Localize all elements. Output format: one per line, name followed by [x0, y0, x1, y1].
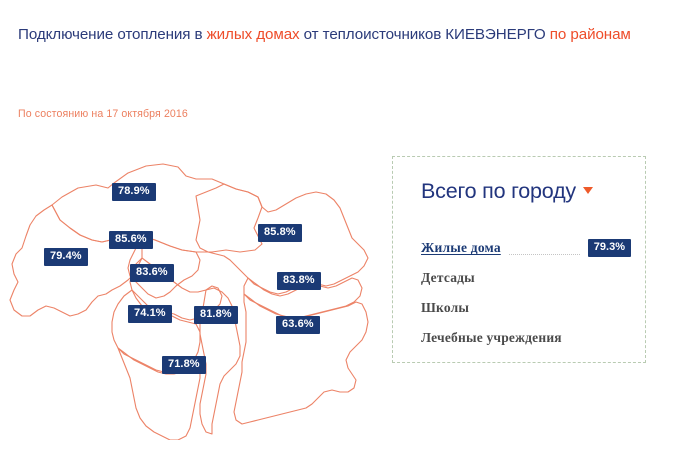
metric-value-residential: 79.3%: [588, 239, 631, 257]
triangle-down-icon[interactable]: [583, 187, 593, 194]
map-svg: [0, 140, 390, 440]
map-badge-podilskyi[interactable]: 85.6%: [109, 231, 153, 249]
map-badge-dniprovskyi[interactable]: 83.8%: [277, 272, 321, 290]
district-outline-darnytskyi[interactable]: [234, 294, 368, 424]
title-segment-plain-1: Подключение отопления в: [18, 26, 207, 43]
metric-list: Жилые дома 79.3% Детсады Школы Лечебные …: [421, 233, 631, 353]
map-badge-holosiivskyi[interactable]: 71.8%: [162, 356, 206, 374]
metric-label-schools: Школы: [421, 300, 469, 316]
district-outline-obolonskyi[interactable]: [52, 164, 262, 252]
panel-heading-label: Всего по городу: [421, 179, 576, 203]
title-segment-highlight-2: по районам: [550, 26, 631, 43]
map-badge-solomianskyi[interactable]: 74.1%: [128, 305, 172, 323]
map-badge-sviatoshynskyi[interactable]: 79.4%: [44, 248, 88, 266]
metric-label-kindergartens: Детсады: [421, 270, 475, 286]
metric-row-kindergartens[interactable]: Детсады: [421, 263, 631, 293]
title-segment-highlight-1: жилых домах: [207, 26, 300, 43]
map-badge-desnianskyi[interactable]: 85.8%: [258, 224, 302, 242]
map-badge-shevchenkivskyi[interactable]: 83.6%: [130, 264, 174, 282]
map-badge-pecherskyi[interactable]: 81.8%: [194, 306, 238, 324]
page-title: Подключение отопления в жилых домах от т…: [18, 22, 666, 47]
subtitle-date: По состоянию на 17 октября 2016: [18, 108, 188, 120]
map-badge-darnytskyi[interactable]: 63.6%: [276, 316, 320, 334]
title-segment-plain-2: от теплоисточников КИЕВЭНЕРГО: [300, 26, 550, 43]
map-badge-obolonskyi[interactable]: 78.9%: [112, 183, 156, 201]
city-total-panel: Всего по городу Жилые дома 79.3% Детсады…: [392, 156, 646, 363]
metric-label-residential: Жилые дома: [421, 240, 501, 256]
dotted-leader: [509, 253, 580, 255]
metric-row-residential[interactable]: Жилые дома 79.3%: [421, 233, 631, 263]
panel-heading[interactable]: Всего по городу: [421, 179, 593, 204]
metric-label-medical: Лечебные учреждения: [421, 330, 562, 346]
metric-row-medical[interactable]: Лечебные учреждения: [421, 323, 631, 353]
header-block: Подключение отопления в жилых домах от т…: [18, 22, 666, 47]
district-map: 78.9% 85.6% 79.4% 83.6% 85.8% 83.8% 74.1…: [0, 140, 390, 440]
metric-row-schools[interactable]: Школы: [421, 293, 631, 323]
